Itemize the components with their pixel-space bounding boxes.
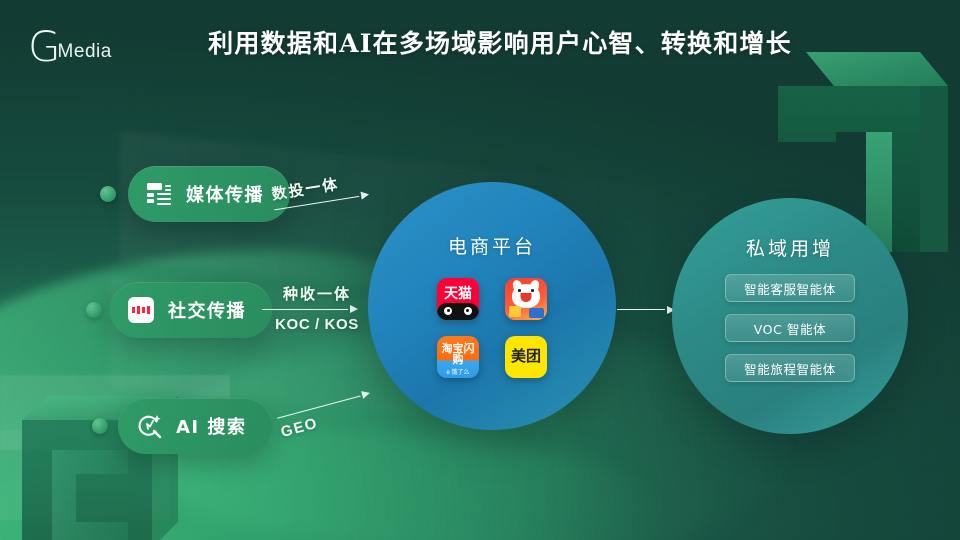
ecommerce-circle: 电商平台 天猫 淘宝闪购 e 饿	[368, 182, 616, 430]
jd-eye-right-icon	[531, 289, 534, 292]
jd-app-icon[interactable]	[505, 278, 547, 320]
annotation-label-social-bottom: KOC / KOS	[262, 316, 372, 333]
slide-canvas: G Media 利用数据和AI在多场域影响用户心智、转换和增长 媒体传播	[0, 0, 960, 540]
private-domain-title: 私域用增	[672, 234, 908, 261]
channel-pill-social[interactable]: 社交传播	[110, 282, 272, 338]
private-domain-circle: 私域用增 智能客服智能体 VOC 智能体 智能旅程智能体	[672, 198, 908, 434]
chip-voc-agent[interactable]: VOC 智能体	[725, 314, 855, 342]
tmall-pupil-left-icon	[447, 309, 450, 312]
arrow-ecommerce-to-private-icon	[617, 304, 675, 314]
chip-smart-service-agent[interactable]: 智能客服智能体	[725, 274, 855, 302]
meituan-app-icon[interactable]: 美团	[505, 336, 547, 378]
channel-dot-media	[100, 186, 116, 202]
background-green-sweep-secondary	[0, 430, 660, 540]
annotation-media-to-ecommerce: 数投一体	[270, 169, 370, 215]
annotation-label-social-top: 种收一体	[262, 283, 372, 304]
jd-eye-left-icon	[518, 289, 521, 292]
channel-dot-ai-search	[92, 418, 108, 434]
channel-dot-social	[86, 302, 102, 318]
ecommerce-app-grid: 天猫 淘宝闪购 e 饿了么	[437, 278, 547, 378]
private-domain-chip-list: 智能客服智能体 VOC 智能体 智能旅程智能体	[725, 274, 855, 382]
channel-pill-ai-search[interactable]: AI 搜索	[118, 398, 272, 454]
media-layout-icon	[144, 179, 174, 209]
tmall-app-label: 天猫	[444, 287, 472, 301]
meituan-app-label: 美团	[511, 349, 541, 364]
annotation-social-to-ecommerce: 种收一体 KOC / KOS	[262, 283, 372, 333]
ecommerce-title: 电商平台	[368, 232, 616, 259]
channel-label-ai-search: AI 搜索	[176, 413, 246, 439]
annotation-arrow-social-icon	[262, 304, 358, 314]
channel-label-social: 社交传播	[168, 297, 246, 323]
tmall-app-icon[interactable]: 天猫	[437, 278, 479, 320]
page-title: 利用数据和AI在多场域影响用户心智、转换和增长	[0, 24, 960, 60]
tmall-pupil-right-icon	[466, 309, 469, 312]
jd-parcel-blue-icon	[529, 308, 544, 318]
taobao-shangou-app-icon[interactable]: 淘宝闪购 e 饿了么	[437, 336, 479, 378]
taobao-app-sublabel: e 饿了么	[437, 367, 479, 376]
xiaohongshu-icon	[126, 295, 156, 325]
channel-label-media: 媒体传播	[186, 181, 264, 207]
chip-smart-journey-agent[interactable]: 智能旅程智能体	[725, 354, 855, 382]
ai-search-sparkle-icon	[134, 411, 164, 441]
annotation-ai-search-to-ecommerce: GEO	[276, 388, 376, 441]
jd-parcel-yellow-icon	[509, 306, 521, 317]
channel-pill-media[interactable]: 媒体传播	[128, 166, 290, 222]
taobao-app-label: 淘宝闪购	[437, 343, 479, 365]
